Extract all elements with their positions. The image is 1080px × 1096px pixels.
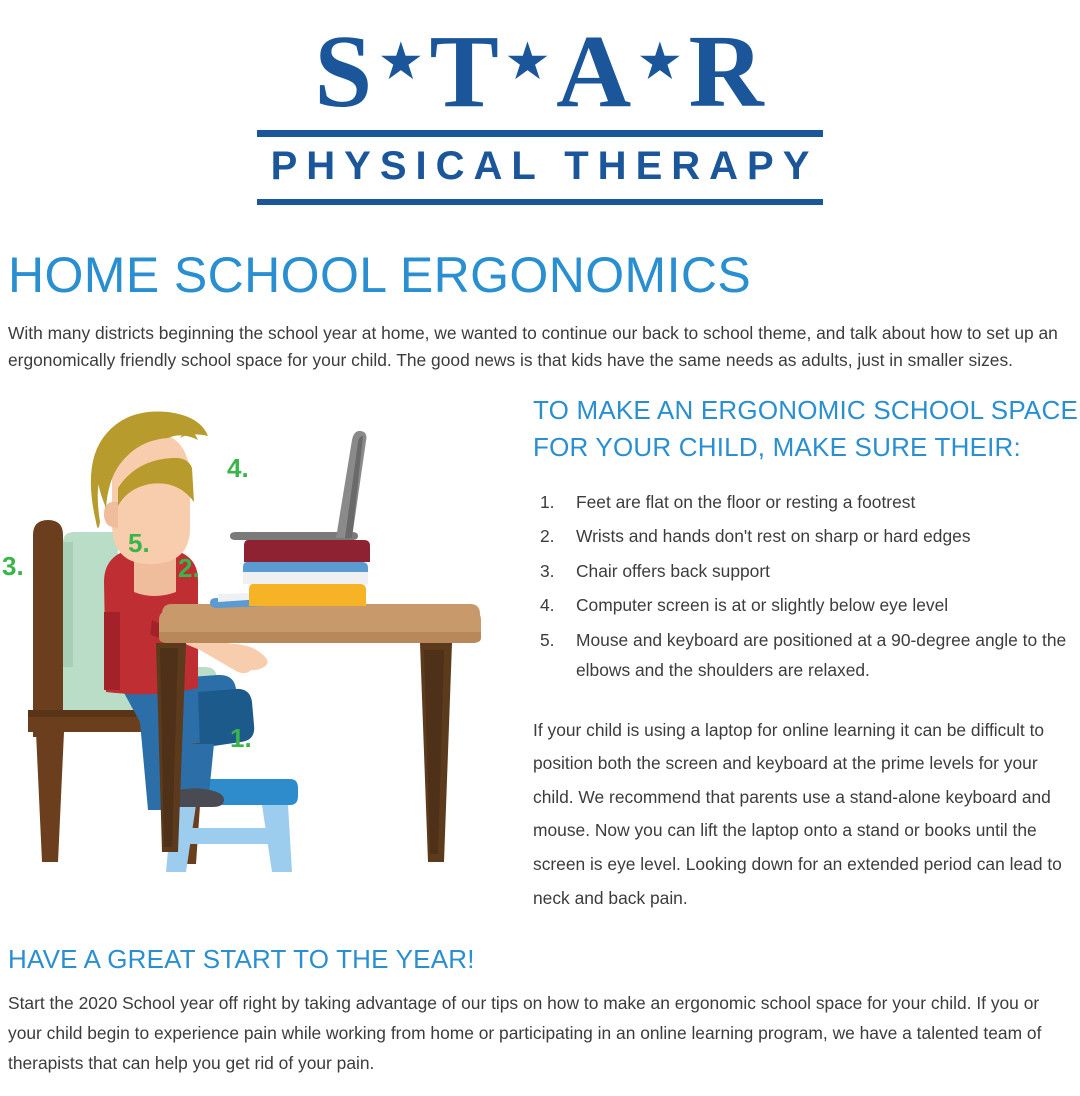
callout-1: 1.	[230, 723, 252, 753]
logo-divider-bottom	[257, 199, 823, 205]
section-heading: TO MAKE AN ERGONOMIC SCHOOL SPACE FOR YO…	[533, 392, 1080, 466]
logo-wordmark: S ★ T ★ A ★ R	[314, 18, 765, 126]
footer-heading: HAVE A GREAT START TO THE YEAR!	[8, 944, 1072, 975]
logo-star-icon-1: ★	[380, 39, 423, 85]
callout-3: 3.	[2, 551, 24, 581]
logo-star-icon-2: ★	[507, 39, 550, 85]
list-item: Chair offers back support	[573, 557, 1080, 587]
ergonomics-illustration: 4. 5. 2. 3. 1.	[0, 392, 510, 882]
tips-list: Feet are flat on the floor or resting a …	[533, 488, 1080, 686]
brand-logo: S ★ T ★ A ★ R PHYSICAL THERAPY	[0, 0, 1080, 205]
footer-paragraph: Start the 2020 School year off right by …	[8, 988, 1068, 1078]
callout-2: 2.	[178, 553, 200, 583]
logo-letter-a: A	[556, 18, 633, 126]
logo-subtitle: PHYSICAL THERAPY	[262, 137, 819, 192]
list-item: Mouse and keyboard are positioned at a 9…	[573, 626, 1080, 686]
callout-5: 5.	[128, 528, 150, 558]
footer-section: HAVE A GREAT START TO THE YEAR! Start th…	[8, 944, 1072, 1096]
book-stack-graphic	[243, 540, 370, 606]
body-columns: 4. 5. 2. 3. 1. TO MAKE AN ERGONOMIC SCHO…	[0, 392, 1080, 892]
laptop-advice-paragraph: If your child is using a laptop for onli…	[533, 714, 1080, 916]
intro-paragraph: With many districts beginning the school…	[8, 320, 1070, 374]
list-item: Computer screen is at or slightly below …	[573, 591, 1080, 621]
logo-star-icon-3: ★	[639, 39, 682, 85]
logo-letter-s: S	[314, 18, 374, 126]
logo-divider-top	[257, 130, 823, 137]
right-column: TO MAKE AN ERGONOMIC SCHOOL SPACE FOR YO…	[533, 392, 1080, 932]
list-item: Wrists and hands don't rest on sharp or …	[573, 522, 1080, 552]
logo-letter-r: R	[688, 18, 765, 126]
callout-4: 4.	[227, 453, 249, 483]
logo-letter-t: T	[430, 18, 501, 126]
list-item: Feet are flat on the floor or resting a …	[573, 488, 1080, 518]
page-title: HOME SCHOOL ERGONOMICS	[8, 249, 1080, 302]
laptop-graphic	[230, 431, 366, 540]
